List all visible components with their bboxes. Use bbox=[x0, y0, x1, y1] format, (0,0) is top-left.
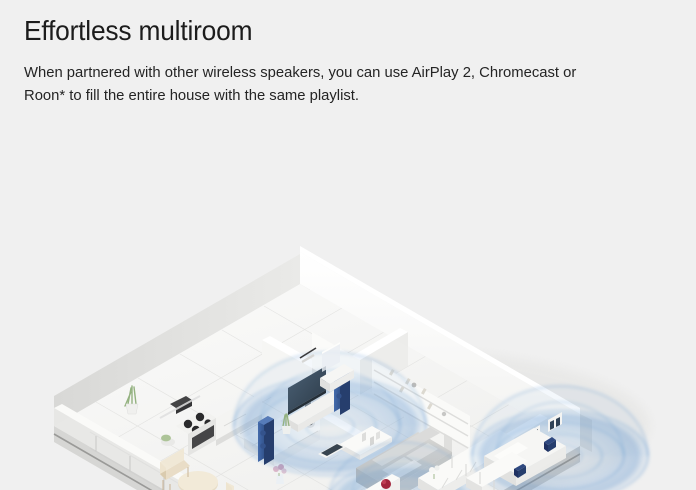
apartment-illustration bbox=[0, 126, 696, 490]
page-subcopy: When partnered with other wireless speak… bbox=[24, 61, 590, 107]
isometric-floorplan-svg bbox=[0, 126, 696, 490]
page-title: Effortless multiroom bbox=[24, 14, 607, 47]
page-root: Effortless multiroom When partnered with… bbox=[0, 0, 696, 490]
text-block: Effortless multiroom When partnered with… bbox=[24, 14, 644, 107]
